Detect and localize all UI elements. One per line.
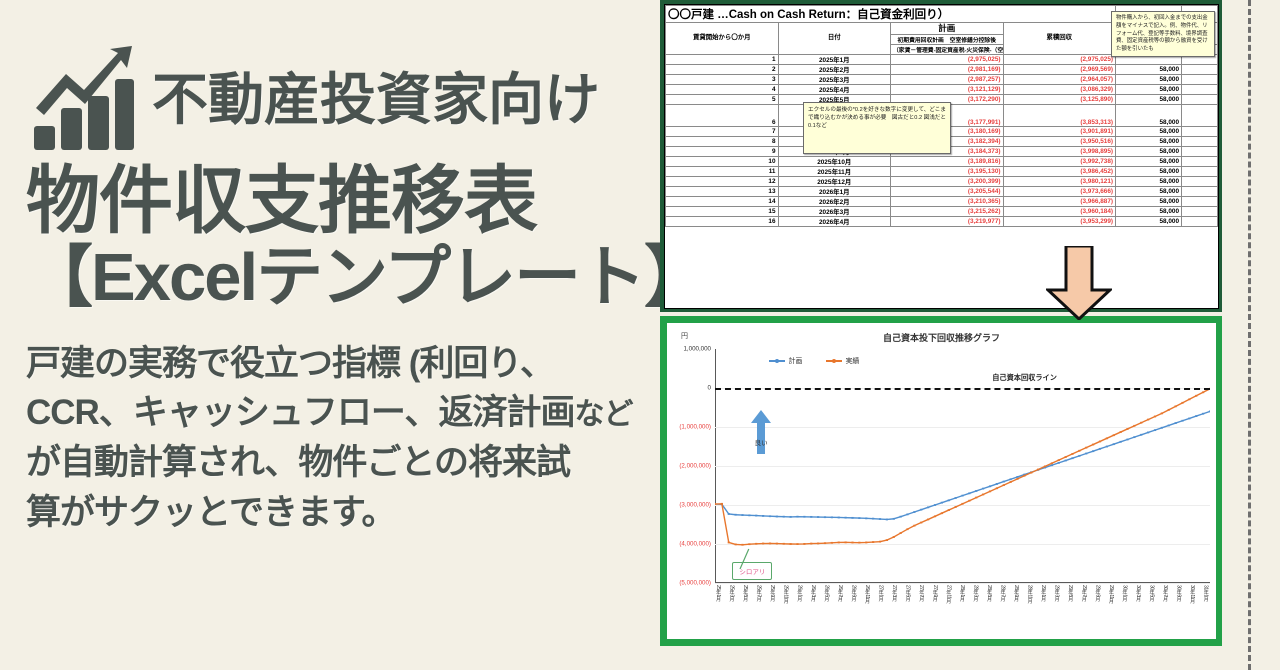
series-marker <box>1044 465 1046 467</box>
x-axis-tick-label: 26年7月 <box>837 585 844 601</box>
series-marker <box>1016 478 1018 480</box>
series-marker <box>1023 475 1025 477</box>
series-marker <box>1140 422 1142 424</box>
cell-rent-income[interactable]: 58,000 <box>1116 156 1182 166</box>
cell-month-index[interactable]: 11 <box>666 166 779 176</box>
series-marker <box>762 543 764 545</box>
cell-plan-value[interactable]: (2,975,025) <box>891 54 1004 64</box>
series-marker <box>865 517 867 519</box>
cell-rent-income[interactable]: 58,000 <box>1116 166 1182 176</box>
cell-rent-income[interactable]: 58,000 <box>1116 176 1182 186</box>
cell-month-index[interactable]: 5 <box>666 94 779 104</box>
cell-month-index[interactable]: 8 <box>666 136 779 146</box>
series-marker <box>886 519 888 521</box>
cell-month-index[interactable]: 10 <box>666 156 779 166</box>
cell-plan-value[interactable]: (3,121,129) <box>891 84 1004 94</box>
x-axis-tick-label: 25年11月 <box>783 585 790 603</box>
cell-month-index[interactable]: 3 <box>666 74 779 84</box>
cell-date[interactable]: 2025年2月 <box>778 64 891 74</box>
cell-tail[interactable] <box>1182 166 1218 176</box>
cell-tail[interactable] <box>1182 216 1218 226</box>
legend-swatch-icon <box>826 360 842 362</box>
headline-primary: 不動産投資家向け <box>152 71 600 130</box>
series-marker <box>1188 418 1190 420</box>
cell-tail[interactable] <box>1182 186 1218 196</box>
cell-cumulative-value[interactable]: (3,973,666) <box>1003 186 1116 196</box>
x-axis-tick-label: 26年1月 <box>796 585 803 601</box>
chart-plot-area[interactable]: 1,000,0000(1,000,000)(2,000,000)(3,000,0… <box>715 349 1210 583</box>
cell-cumulative-value[interactable]: (3,950,516) <box>1003 136 1116 146</box>
series-marker <box>927 506 929 508</box>
series-marker <box>1106 446 1108 448</box>
promo-text-panel: 不動産投資家向け 物件収支推移表 【Excelテンプレート】 戸建の実務で役立つ… <box>0 0 660 670</box>
excel-comment-initial-cost[interactable]: 物件購入から、初回入金までの支出金額をマイナスで記入。例、物件代、リフォーム代、… <box>1111 11 1215 57</box>
y-axis-tick-label: (1,000,000) <box>679 423 711 430</box>
cell-rent-income[interactable]: 58,000 <box>1116 104 1182 126</box>
table-row[interactable]: 102025年10月(3,189,816)(3,992,738)58,000 <box>666 156 1218 166</box>
series-marker <box>762 515 764 517</box>
series-marker <box>1051 462 1053 464</box>
series-marker <box>803 543 805 545</box>
cell-cumulative-value[interactable]: (3,853,313) <box>1003 104 1116 126</box>
cell-tail[interactable] <box>1182 206 1218 216</box>
body-line-2-wrap: CCR、キャッシュフロー、返済計画など <box>26 388 642 438</box>
cell-cumulative-value[interactable]: (3,980,121) <box>1003 176 1116 186</box>
cell-rent-income[interactable]: 58,000 <box>1116 74 1182 84</box>
cell-cumulative-value[interactable]: (2,964,057) <box>1003 74 1116 84</box>
series-marker <box>1078 455 1080 457</box>
series-marker <box>934 504 936 506</box>
legend-item-計画[interactable]: 計画 <box>769 356 802 366</box>
series-marker <box>776 543 778 545</box>
cell-month-index[interactable]: 14 <box>666 196 779 206</box>
promo-body-copy: 戸建の実務で役立つ指標 (利回り、 CCR、キャッシュフロー、返済計画など が自… <box>26 339 642 538</box>
excel-comment-plan[interactable]: エクセルの最後の*0.2を好きな数字に変更して、どこまで織り込むかが決める事が必… <box>803 102 951 154</box>
series-marker <box>989 485 991 487</box>
y-axis-tick-label: (4,000,000) <box>679 541 711 548</box>
x-axis-tick-label: 27年3月 <box>891 585 898 601</box>
legend-item-実績[interactable]: 実績 <box>826 356 859 366</box>
x-axis-tick-label: 26年11月 <box>864 585 871 603</box>
screenshot-stack: 〇〇戸建 …Cash on Cash Return：自己資金利回り） 賃貸開始か… <box>658 0 1226 670</box>
spreadsheet[interactable]: 〇〇戸建 …Cash on Cash Return：自己資金利回り） 賃貸開始か… <box>664 4 1219 309</box>
cell-plan-value[interactable]: (3,219,977) <box>891 216 1004 226</box>
series-marker <box>906 528 908 530</box>
series-marker <box>1085 447 1087 449</box>
series-canvas <box>715 349 1210 583</box>
cell-cumulative-value[interactable]: (2,975,025) <box>1003 54 1116 64</box>
table-row[interactable]: 22025年2月(2,981,169)(2,969,569)58,000 <box>666 64 1218 74</box>
series-marker <box>810 543 812 545</box>
series-marker <box>1113 434 1115 436</box>
series-marker <box>1003 484 1005 486</box>
x-axis-tick-label: 31年1月 <box>1203 585 1210 601</box>
series-marker <box>913 511 915 513</box>
page-edge-dashed-divider <box>1248 0 1251 670</box>
table-row[interactable]: 152026年3月(3,215,262)(3,960,184)58,000 <box>666 206 1218 216</box>
cell-tail[interactable] <box>1182 156 1218 166</box>
cell-month-index[interactable]: 2 <box>666 64 779 74</box>
series-marker <box>900 532 902 534</box>
series-marker <box>755 543 757 545</box>
series-marker <box>721 503 723 505</box>
series-marker <box>1058 462 1060 464</box>
up-arrow-icon <box>750 410 772 454</box>
x-axis-tick-label: 27年1月 <box>878 585 885 601</box>
x-axis-tick-label: 30年1月 <box>1121 585 1128 601</box>
series-marker <box>927 519 929 521</box>
cell-tail[interactable] <box>1182 74 1218 84</box>
good-direction-label: 良い <box>755 437 768 447</box>
x-axis-tick-label: 28年7月 <box>999 585 1006 601</box>
series-marker <box>1161 427 1163 429</box>
series-marker <box>934 515 936 517</box>
x-axis-tick-label: 25年7月 <box>756 585 763 601</box>
headline-row: 不動産投資家向け <box>26 44 642 156</box>
series-marker <box>1106 437 1108 439</box>
cell-date[interactable]: 2025年4月 <box>778 84 891 94</box>
x-axis-tick-label: 27年7月 <box>918 585 925 601</box>
header-plan-line2: （家賃－管理費-固定資産税-火災保険-（空室＋修繕で20%想 <box>891 44 1004 54</box>
series-marker <box>975 490 977 492</box>
y-axis-tick-label: 1,000,000 <box>683 346 711 353</box>
table-row[interactable]: 122025年12月(3,200,399)(3,980,121)58,000 <box>666 176 1218 186</box>
cell-rent-income[interactable]: 58,000 <box>1116 84 1182 94</box>
y-axis-tick-label: (5,000,000) <box>679 580 711 587</box>
series-marker <box>961 495 963 497</box>
sheet-title: 〇〇戸建 …Cash on Cash Return：自己資金利回り） <box>666 6 1116 23</box>
x-axis-tick-label: 29年5月 <box>1067 585 1074 601</box>
series-marker <box>1113 443 1115 445</box>
series-marker <box>872 518 874 520</box>
cell-tail[interactable] <box>1182 84 1218 94</box>
down-arrow-icon <box>1046 246 1112 320</box>
series-marker <box>982 488 984 490</box>
series-marker <box>1078 450 1080 452</box>
series-marker <box>1188 398 1190 400</box>
series-marker <box>920 509 922 511</box>
series-marker <box>1175 405 1177 407</box>
series-marker <box>824 542 826 544</box>
cell-plan-value[interactable]: (3,205,544) <box>891 186 1004 196</box>
x-axis-tick-label: 28年1月 <box>959 585 966 601</box>
cell-cumulative-value[interactable]: (3,966,887) <box>1003 196 1116 206</box>
table-row[interactable]: 112025年11月(3,195,130)(3,986,452)58,000 <box>666 166 1218 176</box>
header-index: 賃貸開始から〇か月 <box>666 23 779 55</box>
series-marker <box>1092 444 1094 446</box>
x-axis-tick-labels: 25年1月25年3月25年5月25年7月25年9月25年11月26年1月26年3… <box>715 585 1210 635</box>
series-marker <box>1065 460 1067 462</box>
series-marker <box>810 516 812 518</box>
y-axis-tick-label: (3,000,000) <box>679 501 711 508</box>
cell-plan-value[interactable]: (3,215,262) <box>891 206 1004 216</box>
series-marker <box>879 518 881 520</box>
series-marker <box>906 513 908 515</box>
series-marker <box>968 500 970 502</box>
series-marker <box>796 543 798 545</box>
cell-cumulative-value[interactable]: (3,125,890) <box>1003 94 1116 104</box>
series-marker <box>1085 453 1087 455</box>
recovery-line <box>715 388 1210 390</box>
cell-rent-income[interactable]: 58,000 <box>1116 94 1182 104</box>
cell-cumulative-value[interactable]: (3,953,299) <box>1003 216 1116 226</box>
series-marker <box>1209 410 1210 412</box>
series-marker <box>817 543 819 545</box>
series-marker <box>1126 428 1128 430</box>
series-marker <box>872 541 874 543</box>
x-axis-tick-label: 29年1月 <box>1040 585 1047 601</box>
series-line-実績 <box>715 389 1210 545</box>
series-marker <box>858 517 860 519</box>
headline-secondary: 物件収支推移表 <box>26 160 642 243</box>
table-row[interactable]: 32025年3月(2,987,257)(2,964,057)58,000 <box>666 74 1218 84</box>
cell-month-index[interactable]: 4 <box>666 84 779 94</box>
cell-date[interactable]: 2026年2月 <box>778 196 891 206</box>
series-marker <box>776 516 778 518</box>
cell-plan-value[interactable]: (2,981,169) <box>891 64 1004 74</box>
series-marker <box>741 514 743 516</box>
series-marker <box>728 542 730 544</box>
body-line-2: CCR、キャッシュフロー、返済計画 <box>26 393 574 432</box>
cell-cumulative-value[interactable]: (2,969,569) <box>1003 64 1116 74</box>
x-axis-tick-label: 28年9月 <box>1013 585 1020 601</box>
series-marker <box>824 516 826 518</box>
series-marker <box>1120 431 1122 433</box>
x-axis-tick-label: 30年3月 <box>1135 585 1142 601</box>
series-marker <box>1010 481 1012 483</box>
series-marker <box>817 516 819 518</box>
cell-date[interactable]: 2026年4月 <box>778 216 891 226</box>
series-marker <box>886 539 888 541</box>
cell-month-index[interactable]: 9 <box>666 146 779 156</box>
series-marker <box>735 514 737 516</box>
series-marker <box>1016 476 1018 478</box>
promo-banner-page: 不動産投資家向け 物件収支推移表 【Excelテンプレート】 戸建の実務で役立つ… <box>0 0 1280 670</box>
series-marker <box>845 517 847 519</box>
series-marker <box>748 543 750 545</box>
series-marker <box>851 517 853 519</box>
table-row[interactable]: 142026年2月(3,210,365)(3,966,887)58,000 <box>666 196 1218 206</box>
series-marker <box>1181 402 1183 404</box>
series-marker <box>920 522 922 524</box>
series-marker <box>1071 457 1073 459</box>
x-axis-tick-label: 26年3月 <box>810 585 817 601</box>
cell-rent-income[interactable]: 58,000 <box>1116 126 1182 136</box>
cell-tail[interactable] <box>1182 146 1218 156</box>
y-axis-tick-label: (2,000,000) <box>679 463 711 470</box>
header-plan-group: 計画 <box>891 23 1004 35</box>
series-marker <box>1003 481 1005 483</box>
cell-tail[interactable] <box>1182 196 1218 206</box>
series-marker <box>1195 395 1197 397</box>
series-marker <box>1120 441 1122 443</box>
spreadsheet-frame: 〇〇戸建 …Cash on Cash Return：自己資金利回り） 賃貸開始か… <box>660 0 1222 312</box>
series-marker <box>1133 436 1135 438</box>
series-marker <box>851 542 853 544</box>
cell-rent-income[interactable]: 58,000 <box>1116 196 1182 206</box>
table-row[interactable]: 132026年1月(3,205,544)(3,973,666)58,000 <box>666 186 1218 196</box>
table-row[interactable]: 42025年4月(3,121,129)(3,086,329)58,000 <box>666 84 1218 94</box>
series-marker <box>893 536 895 538</box>
x-axis-tick-label: 27年11月 <box>945 585 952 603</box>
series-marker <box>1099 448 1101 450</box>
cell-date[interactable]: 2026年3月 <box>778 206 891 216</box>
cell-rent-income[interactable]: 58,000 <box>1116 146 1182 156</box>
body-line-4: 算がサクッとできます。 <box>26 488 642 538</box>
cell-date[interactable]: 2025年3月 <box>778 74 891 84</box>
cell-date[interactable]: 2025年10月 <box>778 156 891 166</box>
series-marker <box>755 515 757 517</box>
series-marker <box>948 509 950 511</box>
series-marker <box>865 542 867 544</box>
cell-cumulative-value[interactable]: (3,960,184) <box>1003 206 1116 216</box>
series-marker <box>1140 434 1142 436</box>
cell-rent-income[interactable]: 58,000 <box>1116 216 1182 226</box>
recovery-chart[interactable]: 円 自己資本投下回収推移グラフ 1,000,0000(1,000,000)(2,… <box>667 323 1216 639</box>
cell-rent-income[interactable]: 58,000 <box>1116 206 1182 216</box>
series-marker <box>941 502 943 504</box>
cell-cumulative-value[interactable]: (3,086,329) <box>1003 84 1116 94</box>
series-marker <box>790 543 792 545</box>
body-line-2-tail: など <box>574 398 632 431</box>
cell-date[interactable]: 2025年12月 <box>778 176 891 186</box>
cell-date[interactable]: 2026年1月 <box>778 186 891 196</box>
chart-legend: 計画実績 <box>769 356 859 366</box>
cell-tail[interactable] <box>1182 104 1218 126</box>
series-marker <box>1051 464 1053 466</box>
series-marker <box>982 494 984 496</box>
cell-cumulative-value[interactable]: (3,992,738) <box>1003 156 1116 166</box>
x-axis-tick-label: 29年3月 <box>1054 585 1061 601</box>
x-axis-tick-label: 26年9月 <box>850 585 857 601</box>
cell-month-index[interactable]: 15 <box>666 206 779 216</box>
series-marker <box>955 497 957 499</box>
series-marker <box>1092 450 1094 452</box>
series-marker <box>989 490 991 492</box>
series-marker <box>783 516 785 518</box>
cell-tail[interactable] <box>1182 126 1218 136</box>
table-row[interactable]: 162026年4月(3,219,977)(3,953,299)58,000 <box>666 216 1218 226</box>
x-axis-tick-label: 25年9月 <box>769 585 776 601</box>
cell-plan-value[interactable]: (3,210,365) <box>891 196 1004 206</box>
cell-cumulative-value[interactable]: (3,901,891) <box>1003 126 1116 136</box>
series-marker <box>1161 412 1163 414</box>
cell-cumulative-value[interactable]: (3,986,452) <box>1003 166 1116 176</box>
cell-plan-value[interactable]: (2,987,257) <box>891 74 1004 84</box>
y-axis-tick-label: 0 <box>708 384 711 391</box>
series-marker <box>1010 478 1012 480</box>
series-marker <box>900 516 902 518</box>
cell-tail[interactable] <box>1182 176 1218 186</box>
series-marker <box>1175 422 1177 424</box>
x-axis-tick-label: 27年5月 <box>905 585 912 601</box>
series-marker <box>1195 415 1197 417</box>
header-date: 日付 <box>778 23 891 55</box>
series-marker <box>1058 459 1060 461</box>
cell-month-index[interactable]: 6 <box>666 104 779 126</box>
series-marker <box>1099 441 1101 443</box>
cell-date[interactable]: 2025年11月 <box>778 166 891 176</box>
series-marker <box>715 503 716 505</box>
series-marker <box>1154 416 1156 418</box>
series-marker <box>1147 419 1149 421</box>
x-axis-tick-label: 25年5月 <box>742 585 749 601</box>
series-marker <box>879 541 881 543</box>
body-line-1: 戸建の実務で役立つ指標 (利回り、 <box>26 339 642 389</box>
cell-date[interactable]: 2025年1月 <box>778 54 891 64</box>
series-marker <box>790 516 792 518</box>
legend-label: 計画 <box>788 356 802 366</box>
series-marker <box>1181 420 1183 422</box>
body-line-3: が自動計算され、物件ごとの将来試 <box>26 438 642 488</box>
series-marker <box>996 483 998 485</box>
series-marker <box>955 506 957 508</box>
header-cumulative: 累積回収 <box>1003 23 1116 55</box>
x-axis-tick-label: 30年5月 <box>1149 585 1156 601</box>
cell-month-index[interactable]: 13 <box>666 186 779 196</box>
x-axis-tick-label: 29年9月 <box>1094 585 1101 601</box>
series-marker <box>838 517 840 519</box>
series-marker <box>1133 425 1135 427</box>
series-marker <box>1168 425 1170 427</box>
cell-plan-value[interactable]: (3,195,130) <box>891 166 1004 176</box>
series-marker <box>941 512 943 514</box>
bar-chart-growth-icon <box>26 44 138 156</box>
x-axis-tick-label: 30年9月 <box>1176 585 1183 601</box>
x-axis-tick-label: 28年5月 <box>986 585 993 601</box>
cell-plan-value[interactable]: (3,189,816) <box>891 156 1004 166</box>
series-marker <box>948 499 950 501</box>
x-axis-tick-label: 26年5月 <box>823 585 830 601</box>
cell-month-index[interactable]: 12 <box>666 176 779 186</box>
chart-title: 自己資本投下回収推移グラフ <box>667 331 1216 344</box>
series-marker <box>838 542 840 544</box>
series-marker <box>1202 413 1204 415</box>
series-marker <box>796 516 798 518</box>
series-marker <box>975 497 977 499</box>
cell-rent-income[interactable]: 58,000 <box>1116 186 1182 196</box>
x-axis-tick-label: 30年7月 <box>1162 585 1169 601</box>
series-marker <box>748 514 750 516</box>
series-marker <box>1030 472 1032 474</box>
x-axis-tick-label: 25年1月 <box>715 585 722 601</box>
cell-month-index[interactable]: 1 <box>666 54 779 64</box>
cell-tail[interactable] <box>1182 136 1218 146</box>
series-marker <box>1154 429 1156 431</box>
series-marker <box>1037 469 1039 471</box>
termite-leader-line <box>732 546 772 576</box>
cell-rent-income[interactable]: 58,000 <box>1116 136 1182 146</box>
cell-month-index[interactable]: 16 <box>666 216 779 226</box>
grid-line <box>715 583 1210 584</box>
cell-tail[interactable] <box>1182 94 1218 104</box>
cell-cumulative-value[interactable]: (3,998,895) <box>1003 146 1116 156</box>
series-marker <box>893 518 895 520</box>
cell-rent-income[interactable]: 58,000 <box>1116 64 1182 74</box>
x-axis-tick-label: 28年11月 <box>1027 585 1034 603</box>
series-marker <box>1168 409 1170 411</box>
header-plan-line1: 初期費用回収計画 空室修繕分控除後 <box>891 34 1004 44</box>
cell-tail[interactable] <box>1182 64 1218 74</box>
x-axis-tick-label: 28年3月 <box>972 585 979 601</box>
series-marker <box>1065 456 1067 458</box>
series-marker <box>769 515 771 517</box>
series-marker <box>913 525 915 527</box>
cell-plan-value[interactable]: (3,200,399) <box>891 176 1004 186</box>
series-marker <box>831 542 833 544</box>
series-marker <box>803 516 805 518</box>
cell-month-index[interactable]: 7 <box>666 126 779 136</box>
